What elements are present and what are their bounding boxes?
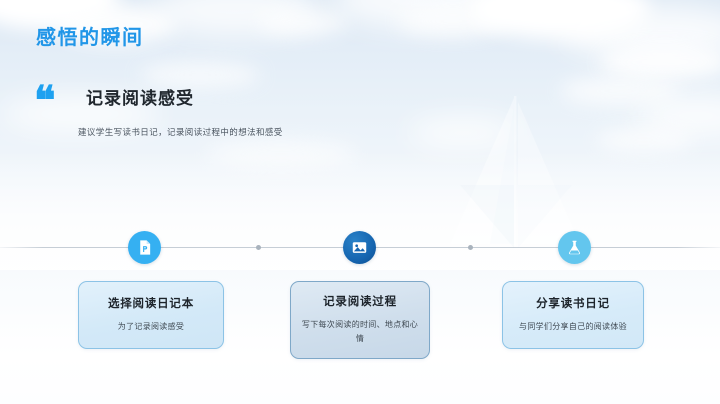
step-card-description: 写下每次阅读的时间、地点和心情 bbox=[301, 318, 419, 344]
step-card-description: 与同学们分享自己的阅读体验 bbox=[519, 320, 627, 333]
cloud-decoration bbox=[600, 44, 720, 80]
file-document-icon bbox=[136, 239, 153, 256]
timeline-marker-dot bbox=[468, 245, 473, 250]
page-title: 感悟的瞬间 bbox=[36, 26, 144, 50]
step-card-title: 分享读书日记 bbox=[536, 295, 610, 311]
timeline-node-file-document[interactable] bbox=[128, 231, 161, 264]
timeline-marker-dot bbox=[256, 245, 261, 250]
step-card[interactable]: 选择阅读日记本 为了记录阅读感受 bbox=[78, 281, 224, 349]
cloud-decoration bbox=[408, 118, 518, 148]
cloud-decoration bbox=[206, 140, 356, 168]
cloud-decoration bbox=[330, 0, 530, 30]
step-card-title: 选择阅读日记本 bbox=[108, 295, 194, 311]
cloud-decoration bbox=[150, 0, 320, 36]
step-card[interactable]: 分享读书日记 与同学们分享自己的阅读体验 bbox=[502, 281, 644, 349]
cloud-decoration bbox=[470, 0, 650, 40]
slide-canvas: 感悟的瞬间 ❝ 记录阅读感受 建议学生写读书日记，记录阅读过程中的想法和感受 bbox=[0, 0, 720, 404]
step-card[interactable]: 记录阅读过程 写下每次阅读的时间、地点和心情 bbox=[290, 281, 430, 359]
step-card-description: 为了记录阅读感受 bbox=[118, 320, 184, 333]
cloud-decoration bbox=[560, 76, 680, 106]
sailboat-illustration bbox=[432, 96, 612, 252]
quote-mark-icon: ❝ bbox=[34, 86, 56, 116]
cloud-decoration bbox=[560, 4, 720, 60]
step-card-title: 记录阅读过程 bbox=[323, 293, 397, 309]
flask-beaker-icon bbox=[566, 239, 583, 256]
cloud-decoration bbox=[258, 10, 348, 36]
image-picture-icon bbox=[351, 239, 368, 256]
cloud-decoration bbox=[596, 128, 692, 152]
quote-subtext: 建议学生写读书日记，记录阅读过程中的想法和感受 bbox=[78, 126, 283, 138]
timeline-node-flask-beaker[interactable] bbox=[558, 231, 591, 264]
cloud-decoration bbox=[398, 6, 508, 36]
cloud-decoration bbox=[636, 96, 720, 136]
quote-heading: 记录阅读感受 bbox=[86, 84, 194, 109]
timeline-node-image-picture[interactable] bbox=[343, 231, 376, 264]
